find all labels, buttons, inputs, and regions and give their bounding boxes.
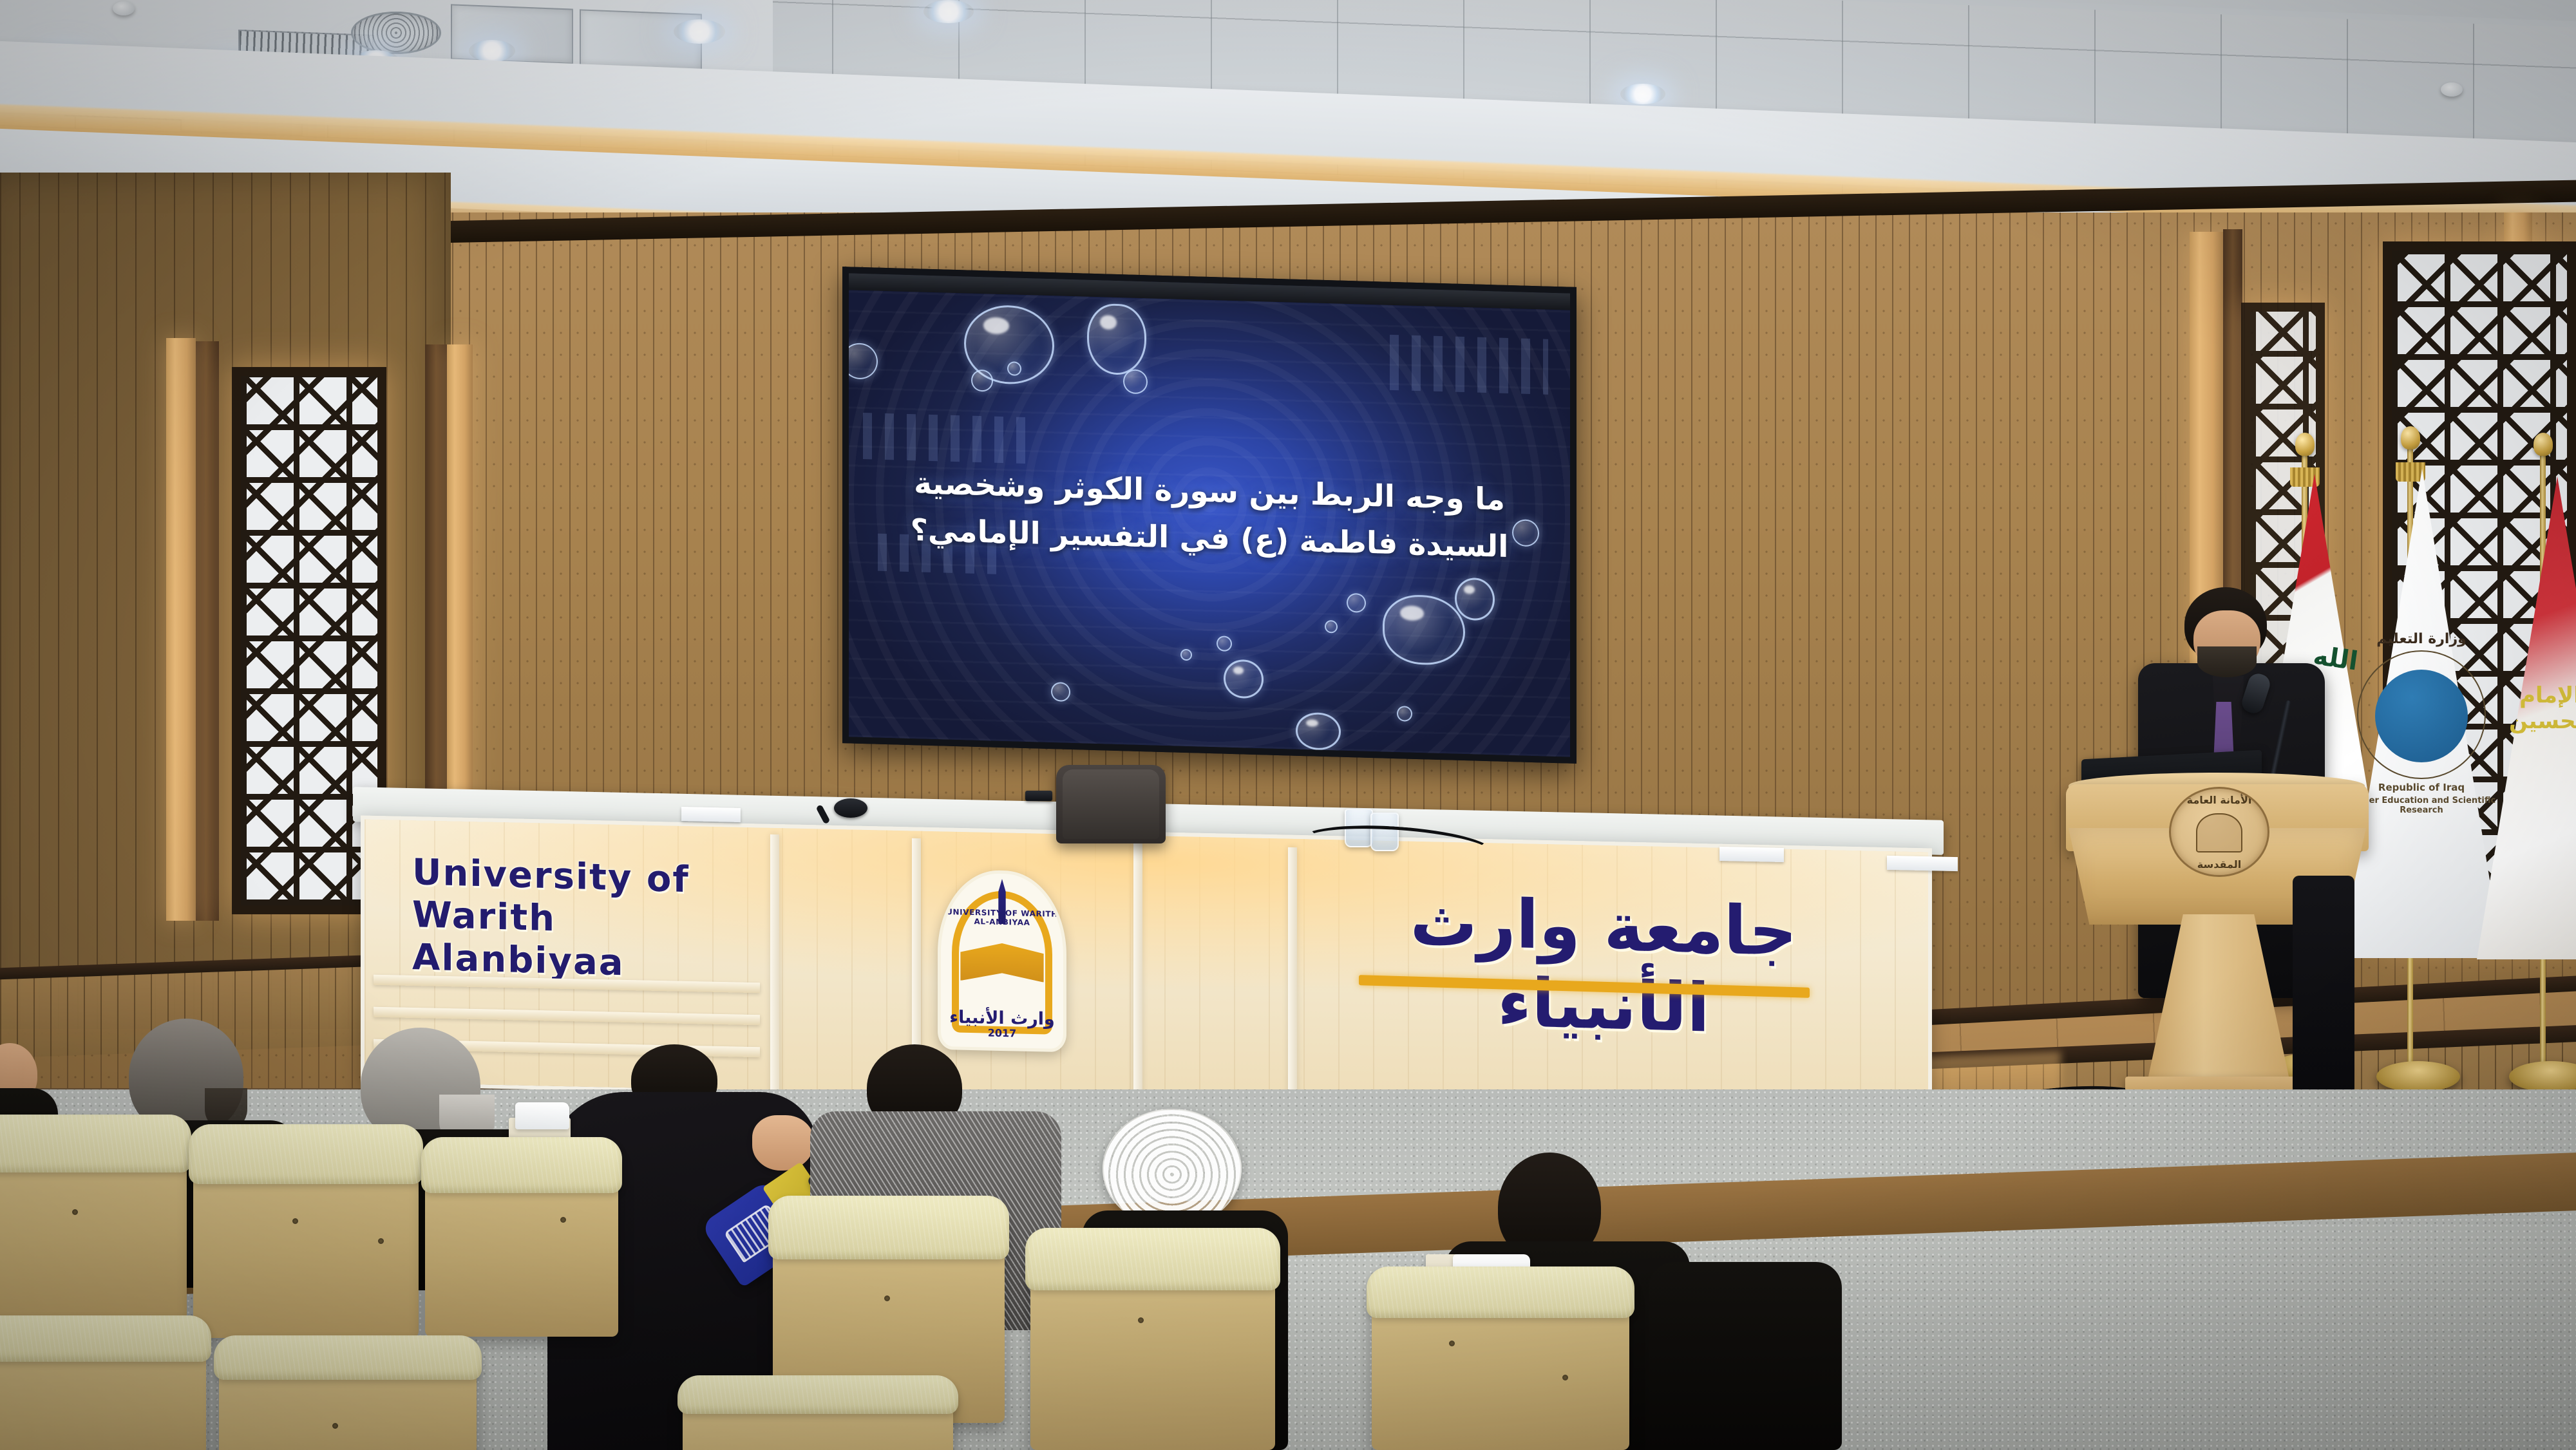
presentation-slide: ما وجه الربط بين سورة الكوثر وشخصية السي…: [849, 273, 1570, 757]
flag-finial-iraq: [2295, 433, 2315, 456]
smoke-detector-1: [113, 1, 135, 15]
ceiling-downlight-4: [469, 40, 515, 62]
table-sign-english: University of Warith Alanbiyaa: [412, 851, 773, 989]
slide-bubble-6: [1123, 369, 1148, 394]
smoke-detector-2: [2441, 82, 2463, 97]
seat-row0-1[interactable]: [0, 1326, 206, 1450]
university-emblem: UNIVERSITY OF WARITH AL-ANBIYAA وارث الأ…: [938, 869, 1066, 1052]
flag-shrine-arabic: الإمام الحسين: [2486, 683, 2576, 734]
seat-row1-5[interactable]: [1030, 1243, 1275, 1450]
ceiling-downlight-7: [1620, 84, 1665, 104]
slide-bubble-14: [1180, 649, 1192, 661]
table-nameplate-3: [1887, 856, 1958, 871]
ceiling-downlight-6: [923, 0, 974, 23]
slide-question-text: ما وجه الربط بين سورة الكوثر وشخصية السي…: [885, 460, 1534, 572]
seat-row1-3[interactable]: [425, 1150, 618, 1337]
emblem-english-arc: UNIVERSITY OF WARITH AL-ANBIYAA: [941, 907, 1063, 928]
slide-barcode-right: [1390, 335, 1548, 395]
slide-bubble-10: [1347, 593, 1366, 613]
table-nameplate-1: [681, 807, 741, 822]
seat-row1-2[interactable]: [193, 1138, 419, 1338]
slide-barcode-left: [863, 413, 1036, 464]
flag-ministry-english-top: Republic of Iraq: [2349, 782, 2494, 793]
speaker-beard: [2197, 646, 2257, 677]
speaker-legs: [2293, 876, 2354, 1095]
head-table-divider-4: [1288, 847, 1297, 1107]
podium-seal-bottom-text: المقدسة: [2171, 858, 2268, 871]
wall-pilaster-lit-left: [166, 338, 196, 921]
flag-ministry-emblem-disc: [2375, 670, 2468, 762]
head-table-divider-3: [1133, 843, 1142, 1104]
flag-finial-shrine: [2533, 433, 2553, 456]
gooseneck-microphone-head: [834, 798, 867, 818]
wall-pilaster-dark-left: [193, 341, 219, 921]
presider-chair[interactable]: [1056, 765, 1166, 843]
ceiling-downlight-5: [674, 19, 725, 44]
emblem-founding-year: 2017: [941, 1026, 1063, 1040]
podium-seal-top-text: الأمانة العامة: [2171, 794, 2268, 806]
seat-row0-3[interactable]: [683, 1384, 953, 1450]
tissue-sheet-1: [515, 1102, 569, 1129]
slide-bubble-16: [1397, 706, 1412, 722]
ceiling-fan-grille-1: [351, 12, 441, 54]
table-nameplate-2: [1719, 847, 1784, 862]
flag-base-ministry: [2376, 1061, 2460, 1092]
conference-hall-photo: ما وجه الربط بين سورة الكوثر وشخصية السي…: [0, 0, 2576, 1450]
flag-ministry-arabic: وزارة التعليم: [2357, 631, 2486, 647]
seat-row1-6[interactable]: [1372, 1279, 1629, 1450]
podium-seal-dome-icon: [2196, 813, 2242, 853]
table-sign-arabic: جامعة وارث الأنبياء: [1327, 880, 1880, 1052]
seat-row1-1[interactable]: [0, 1128, 187, 1321]
projection-screen: ما وجه الربط بين سورة الكوثر وشخصية السي…: [842, 267, 1577, 764]
podium-shrine-seal: الأمانة العامة المقدسة: [2169, 787, 2269, 877]
flag-finial-ministry: [2401, 426, 2420, 449]
table-sign-english-line-2: Warith Alanbiyaa: [412, 894, 773, 989]
table-device-dark: [1025, 791, 1052, 801]
seat-row0-2[interactable]: [219, 1346, 477, 1450]
